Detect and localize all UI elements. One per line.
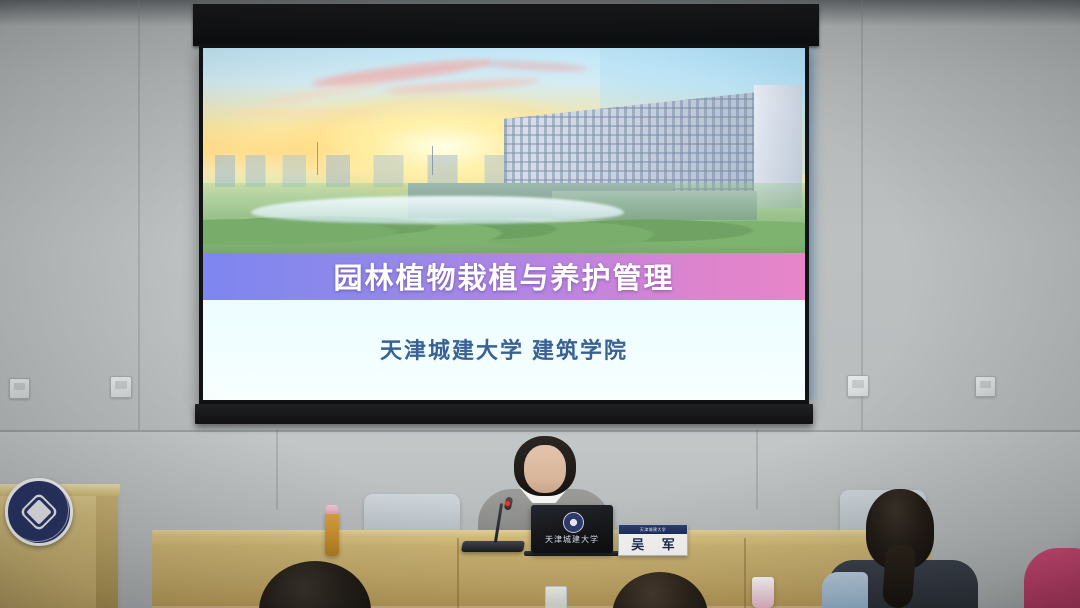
wall-switch-plate-right[interactable] <box>975 376 996 397</box>
wall-seam-vertical-left <box>138 0 140 430</box>
audience-right-ponytail <box>882 544 916 608</box>
laptop[interactable]: 天津城建大学 <box>531 505 613 553</box>
cloud <box>480 59 589 73</box>
wall-switch-plate-left[interactable] <box>9 378 30 399</box>
lectern-side-panel <box>96 492 118 608</box>
screen-valance <box>193 4 819 46</box>
table-seam <box>744 538 746 608</box>
slide-title: 园林植物栽植与养护管理 <box>333 255 674 297</box>
laptop-brand-text: 天津城建大学 <box>531 534 613 545</box>
cloud <box>233 109 377 116</box>
slide-title-band: 园林植物栽植与养护管理 <box>203 253 805 300</box>
projection-screen: 园林植物栽植与养护管理 天津城建大学 建筑学院 吴军 2025年10月28日 <box>193 4 819 428</box>
water-bottle[interactable] <box>325 512 339 556</box>
wall-outlet-plate-left[interactable] <box>110 376 132 398</box>
microphone-base[interactable] <box>461 541 525 552</box>
wall-outlet-plate-right[interactable] <box>847 375 869 397</box>
speaker-face <box>524 445 566 493</box>
audience-right-shirt <box>822 572 868 608</box>
slide-lower-block: 天津城建大学 建筑学院 吴军 2025年10月28日 <box>203 300 805 400</box>
screen-frame: 园林植物栽植与养护管理 天津城建大学 建筑学院 吴军 2025年10月28日 <box>199 44 809 404</box>
university-emblem-ring <box>5 478 69 542</box>
nameplate-name: 吴 军 <box>619 534 687 555</box>
campus-lake <box>251 196 624 225</box>
wall-seam-vertical-lower-right <box>756 430 758 510</box>
slide-content: 园林植物栽植与养护管理 天津城建大学 建筑学院 吴军 2025年10月28日 <box>203 48 805 400</box>
paper-cup[interactable] <box>752 577 774 608</box>
wall-seam-vertical-right <box>861 0 863 430</box>
bottle-cap[interactable] <box>326 505 338 514</box>
university-logo-icon <box>563 512 584 533</box>
slide-organization: 天津城建大学 建筑学院 <box>203 333 805 365</box>
drinking-glass[interactable] <box>545 586 567 608</box>
slide-photo-campus <box>203 48 805 253</box>
nameplate: 天津城建大学 吴 军 <box>618 524 688 556</box>
antenna-mast <box>317 142 318 175</box>
wall-seam-vertical-lower-left <box>276 430 278 510</box>
wall-seam-horizontal <box>0 430 1080 432</box>
table-seam <box>457 538 459 608</box>
lecture-hall-photo: 园林植物栽植与养护管理 天津城建大学 建筑学院 吴军 2025年10月28日 <box>0 0 1080 608</box>
nameplate-header: 天津城建大学 <box>619 525 687 534</box>
screen-bottom-bar <box>195 404 813 424</box>
antenna-mast <box>432 146 433 175</box>
microphone-status-led <box>505 501 510 506</box>
